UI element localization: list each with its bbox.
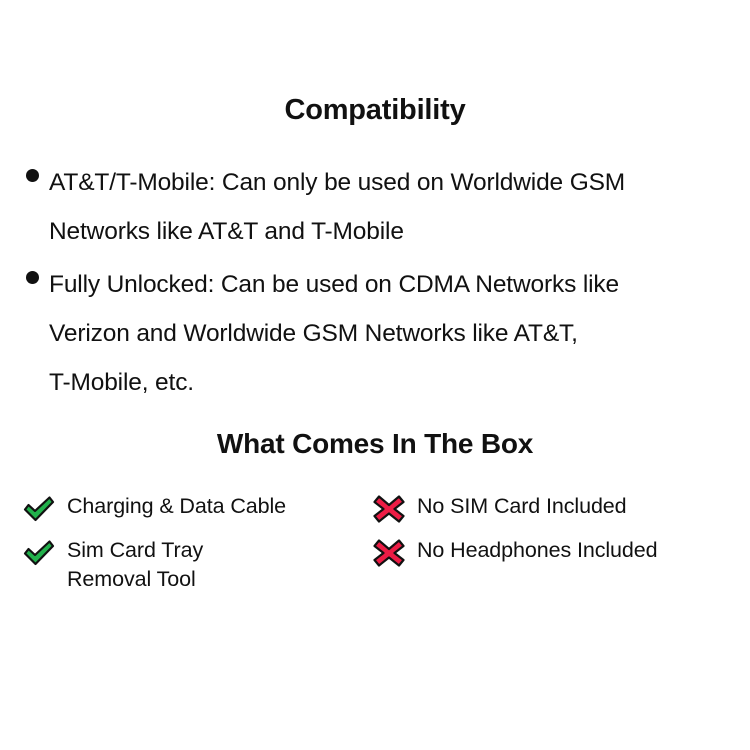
red-cross-icon	[372, 538, 406, 568]
list-item: No SIM Card Included	[372, 492, 742, 528]
compatibility-bullet-list: AT&T/T-Mobile: Can only be used on World…	[26, 158, 732, 411]
compatibility-bullet-text: AT&T/T-Mobile: Can only be used on World…	[49, 158, 732, 256]
compatibility-info-panel: Compatibility AT&T/T-Mobile: Can only be…	[0, 0, 750, 750]
box-contents-included-column: Charging & Data Cable Sim Card Tray Remo…	[22, 492, 372, 602]
compatibility-bullet-text: Fully Unlocked: Can be used on CDMA Netw…	[49, 260, 732, 407]
box-contents-excluded-column: No SIM Card Included No Headphones Inclu…	[372, 492, 742, 580]
green-check-icon	[22, 494, 56, 524]
filled-circle-bullet-icon	[26, 271, 39, 284]
box-item-label: No Headphones Included	[417, 536, 742, 565]
list-item: AT&T/T-Mobile: Can only be used on World…	[26, 158, 732, 256]
box-item-label: No SIM Card Included	[417, 492, 742, 521]
list-item: Sim Card Tray Removal Tool	[22, 536, 372, 594]
box-item-label: Charging & Data Cable	[67, 492, 372, 521]
box-item-label: Sim Card Tray Removal Tool	[67, 536, 372, 594]
list-item: Fully Unlocked: Can be used on CDMA Netw…	[26, 260, 732, 407]
compatibility-heading: Compatibility	[0, 93, 750, 127]
list-item: Charging & Data Cable	[22, 492, 372, 528]
filled-circle-bullet-icon	[26, 169, 39, 182]
green-check-icon	[22, 538, 56, 568]
list-item: No Headphones Included	[372, 536, 742, 572]
red-cross-icon	[372, 494, 406, 524]
box-contents-heading: What Comes In The Box	[0, 427, 750, 461]
